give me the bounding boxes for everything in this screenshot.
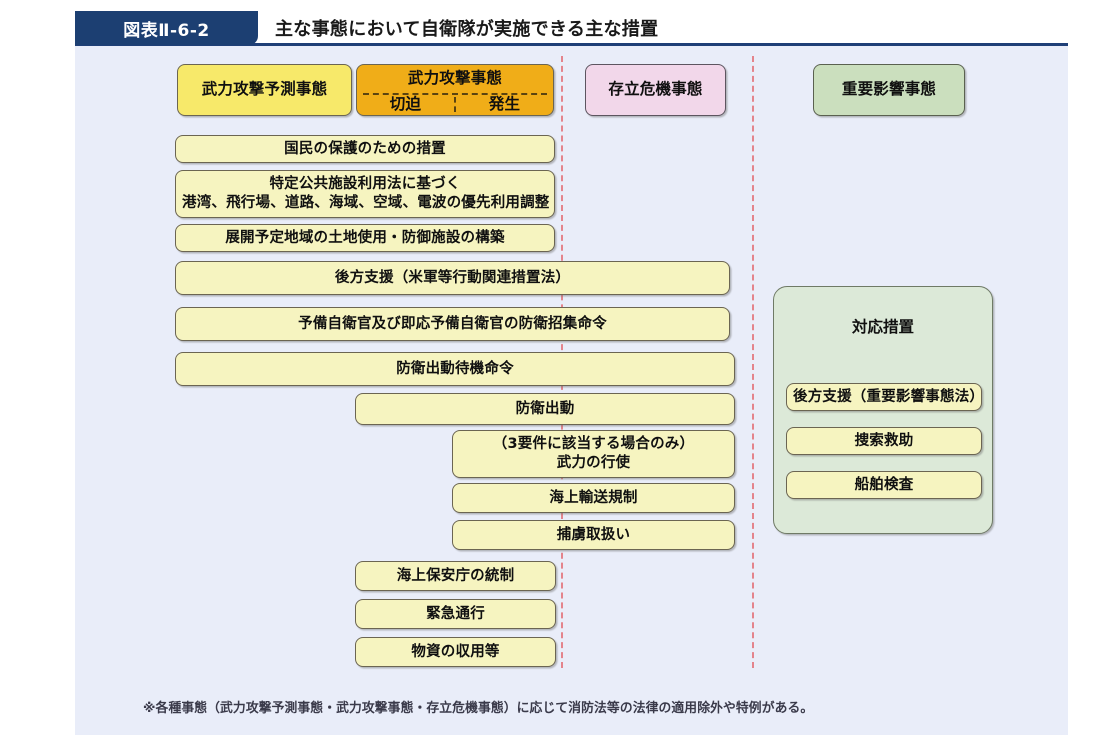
response-panel-title: 対応措置 — [774, 315, 992, 337]
measure-label: 物資の収用等 — [362, 643, 549, 662]
measure-civil-protection: 国民の保護のための措置 — [175, 135, 555, 163]
measure-use-of-force: （3要件に該当する場合のみ） 武力の行使 — [452, 430, 735, 478]
measure-maritime-transport-restriction: 海上輸送規制 — [452, 483, 735, 513]
measure-label: 海上保安庁の統制 — [362, 567, 549, 586]
situation-important-influence: 重要影響事態 — [813, 64, 965, 116]
measure-label: 展開予定地域の土地使用・防御施設の構築 — [182, 229, 548, 248]
measure-defense-mobilization-standby-order: 防衛出動待機命令 — [175, 352, 735, 386]
footnote-text: ※各種事態（武力攻撃予測事態・武力攻撃事態・存立危機事態）に応じて消防法等の法律… — [143, 697, 813, 716]
response-measures-panel: 対応措置 後方支援（重要影響事態法） 捜索救助 船舶検査 — [773, 286, 993, 534]
measure-label: 緊急通行 — [362, 605, 549, 624]
response-item-label: 捜索救助 — [793, 432, 975, 451]
armed-attack-phase-imminent: 切迫 — [357, 95, 454, 115]
separator-survival-threat-right — [752, 56, 754, 668]
figure-number-label: 図表Ⅱ-6-2 — [123, 16, 209, 41]
measure-label: 海上輸送規制 — [459, 489, 728, 508]
measure-label: 防衛出動待機命令 — [182, 360, 728, 379]
situation-survival-threat: 存立危機事態 — [585, 64, 726, 116]
measure-label-line-2: 港湾、飛行場、道路、海域、空域、電波の優先利用調整 — [182, 194, 548, 213]
response-ship-inspection: 船舶検査 — [786, 471, 982, 499]
measure-label: 予備自衛官及び即応予備自衛官の防衛招集命令 — [182, 315, 723, 334]
measure-label: 捕虜取扱い — [459, 526, 728, 545]
response-item-label: 船舶検査 — [793, 476, 975, 495]
figure-number-badge: 図表Ⅱ-6-2 — [75, 11, 258, 45]
measure-requisition-of-supplies: 物資の収用等 — [355, 637, 556, 667]
measure-logistics-support-us-forces: 後方支援（米軍等行動関連措置法） — [175, 261, 730, 295]
measure-label-line-2: 武力の行使 — [459, 454, 728, 473]
measure-specific-public-facility-use: 特定公共施設利用法に基づく 港湾、飛行場、道路、海域、空域、電波の優先利用調整 — [175, 170, 555, 218]
situation-label: 武力攻撃予測事態 — [184, 80, 345, 100]
situation-label: 重要影響事態 — [820, 80, 958, 100]
measure-japan-coast-guard-control: 海上保安庁の統制 — [355, 561, 556, 591]
measure-emergency-passage: 緊急通行 — [355, 599, 556, 629]
situation-predicted-armed-attack: 武力攻撃予測事態 — [177, 64, 352, 116]
armed-attack-phase-occurred: 発生 — [456, 95, 553, 115]
page-title: 主な事態において自衛隊が実施できる主な措置 — [275, 12, 658, 43]
measure-label-line-1: 特定公共施設利用法に基づく — [182, 175, 548, 194]
situation-label: 存立危機事態 — [592, 80, 719, 100]
situation-label: 武力攻撃事態 — [357, 65, 553, 93]
response-item-label: 後方支援（重要影響事態法） — [793, 388, 975, 407]
situation-armed-attack: 武力攻撃事態 切迫 発生 — [356, 64, 554, 116]
measure-defense-mobilization: 防衛出動 — [355, 393, 735, 425]
measure-label-line-1: （3要件に該当する場合のみ） — [459, 435, 728, 454]
diagram-panel: 武力攻撃予測事態 武力攻撃事態 切迫 発生 存立危機事態 重要影響事態 国民の保… — [75, 46, 1068, 735]
measure-label: 国民の保護のための措置 — [182, 140, 548, 159]
response-logistics-support-important-influence: 後方支援（重要影響事態法） — [786, 383, 982, 411]
measure-label: 防衛出動 — [362, 400, 728, 419]
response-search-and-rescue: 捜索救助 — [786, 427, 982, 455]
measure-reserve-personnel-call-up: 予備自衛官及び即応予備自衛官の防衛招集命令 — [175, 307, 730, 341]
armed-attack-phase-row: 切迫 発生 — [357, 95, 553, 115]
measure-label: 後方支援（米軍等行動関連措置法） — [182, 269, 723, 288]
measure-land-use-and-defense-facilities: 展開予定地域の土地使用・防御施設の構築 — [175, 224, 555, 252]
measure-prisoner-of-war-handling: 捕虜取扱い — [452, 520, 735, 550]
